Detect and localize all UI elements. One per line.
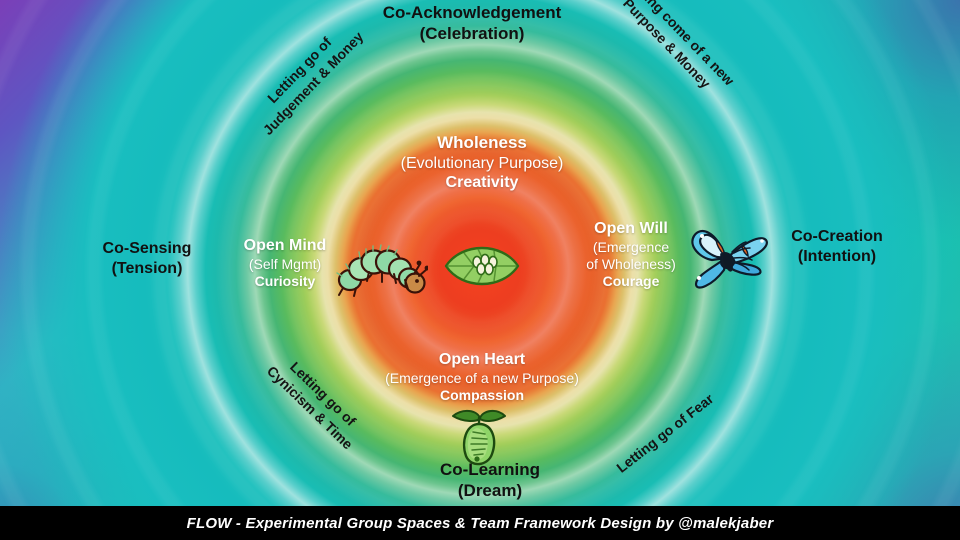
- co-sensing-subtitle: (Tension): [62, 259, 232, 279]
- chrysalis-icon: [447, 406, 511, 470]
- co-sensing-title: Co-Sensing: [62, 239, 232, 259]
- label-open-will: Open Will (Emergence of Wholeness) Coura…: [566, 219, 696, 290]
- label-open-heart: Open Heart (Emergence of a new Purpose) …: [360, 350, 604, 404]
- caption-text: FLOW - Experimental Group Spaces & Team …: [187, 515, 774, 532]
- open-heart-quality: Compassion: [360, 387, 604, 404]
- label-wholeness: Wholeness (Evolutionary Purpose) Creativ…: [361, 133, 603, 193]
- open-heart-subtitle: (Emergence of a new Purpose): [360, 370, 604, 387]
- open-will-subtitle-line2: of Wholeness): [566, 256, 696, 273]
- wholeness-quality: Creativity: [361, 173, 603, 193]
- caption-bar: FLOW - Experimental Group Spaces & Team …: [0, 506, 960, 540]
- open-mind-title: Open Mind: [217, 236, 353, 256]
- wholeness-title: Wholeness: [361, 133, 603, 154]
- butterfly-icon: [686, 218, 770, 296]
- flow-framework-diagram: Co-Acknowledgement (Celebration) Co-Sens…: [0, 0, 960, 540]
- label-co-creation: Co-Creation (Intention): [742, 227, 932, 266]
- open-mind-subtitle: (Self Mgmt): [217, 256, 353, 273]
- open-will-title: Open Will: [566, 219, 696, 239]
- caterpillar-icon: [336, 236, 428, 298]
- open-will-quality: Courage: [566, 273, 696, 290]
- leaf-with-eggs-icon: [444, 240, 520, 292]
- label-open-mind: Open Mind (Self Mgmt) Curiosity: [217, 236, 353, 290]
- co-learning-subtitle: (Dream): [345, 481, 635, 502]
- co-creation-title: Co-Creation: [742, 227, 932, 247]
- co-creation-subtitle: (Intention): [742, 247, 932, 267]
- label-co-sensing: Co-Sensing (Tension): [62, 239, 232, 278]
- open-will-subtitle-line1: (Emergence: [566, 239, 696, 256]
- wholeness-subtitle: (Evolutionary Purpose): [361, 154, 603, 174]
- open-mind-quality: Curiosity: [217, 273, 353, 290]
- open-heart-title: Open Heart: [360, 350, 604, 370]
